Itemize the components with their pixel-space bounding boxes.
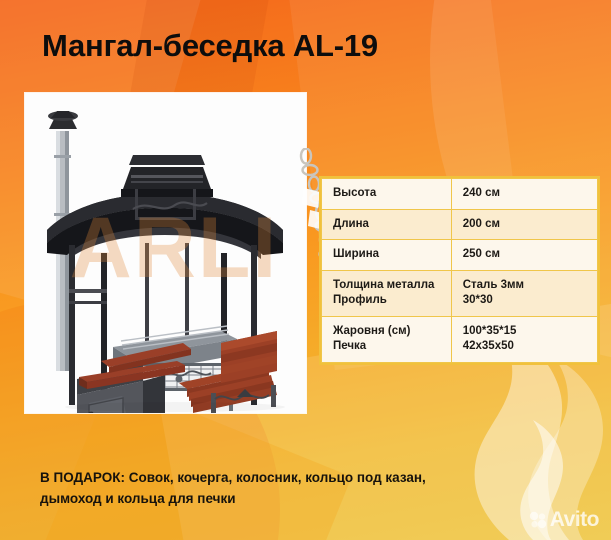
spec-label: Длина: [322, 209, 452, 240]
product-photo-panel: ARLI: [25, 93, 306, 413]
table-row: Ширина 250 см: [322, 240, 598, 271]
spec-value: 100*35*15 42x35x50: [451, 316, 597, 362]
spec-label: Высота: [322, 179, 452, 210]
mangal-gazebo-illustration: [25, 93, 306, 413]
spec-value: Сталь 3мм 30*30: [451, 270, 597, 316]
spec-label: Жаровня (см) Печка: [322, 316, 452, 362]
avito-watermark-text: Avito: [550, 508, 599, 532]
spec-value: 200 см: [451, 209, 597, 240]
gift-note: В ПОДАРОК: Совок, кочерга, колосник, кол…: [40, 468, 460, 510]
avito-logo-icon: [529, 511, 547, 529]
spec-value: 240 см: [451, 179, 597, 210]
avito-watermark: Avito: [529, 508, 599, 532]
spec-label: Ширина: [322, 240, 452, 271]
specifications-table: Высота 240 см Длина 200 см Ширина 250 см…: [321, 178, 598, 363]
table-row: Длина 200 см: [322, 209, 598, 240]
table-row: Высота 240 см: [322, 179, 598, 210]
advertisement-canvas: Мангал-беседка AL-19: [0, 0, 611, 540]
specifications-table-body: Высота 240 см Длина 200 см Ширина 250 см…: [322, 179, 598, 363]
spec-label: Толщина металла Профиль: [322, 270, 452, 316]
table-row: Толщина металла Профиль Сталь 3мм 30*30: [322, 270, 598, 316]
spec-value: 250 см: [451, 240, 597, 271]
page-title: Мангал-беседка AL-19: [42, 28, 378, 64]
table-row: Жаровня (см) Печка 100*35*15 42x35x50: [322, 316, 598, 362]
